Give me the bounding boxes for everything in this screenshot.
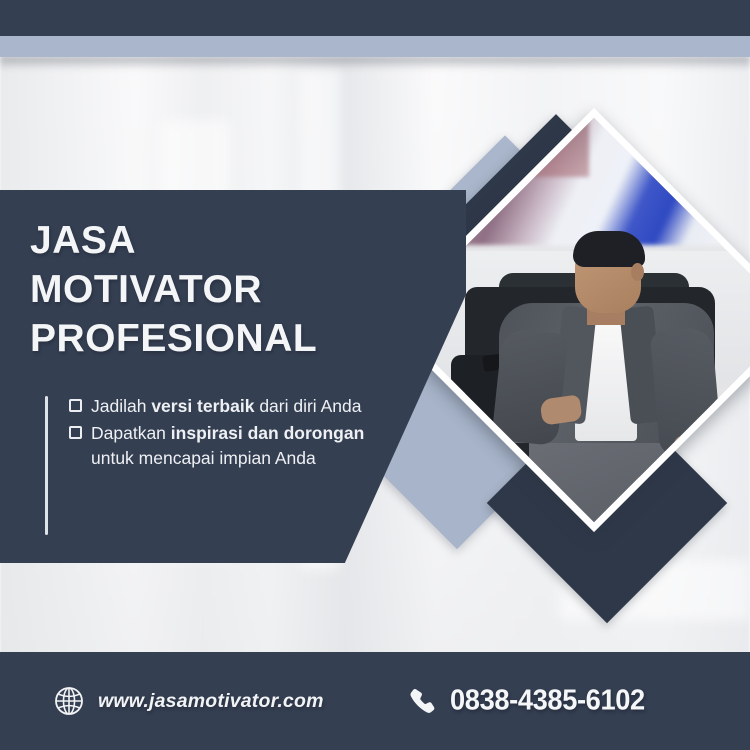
phone-icon: [408, 686, 438, 716]
website-url[interactable]: www.jasamotivator.com: [98, 690, 324, 713]
checkbox-square-icon: [69, 399, 82, 412]
headline-line-3: PROFESIONAL: [30, 314, 390, 363]
photo-hair: [573, 231, 645, 267]
benefit-text-pre: Dapatkan: [91, 423, 171, 443]
benefit-items: Jadilah versi terbaik dari diri Anda Dap…: [69, 394, 375, 472]
background-top-shadow: [0, 56, 750, 70]
benefit-text-post: untuk mencapai impian Anda: [91, 448, 316, 468]
top-blue-band: [0, 36, 750, 57]
benefit-text-post: dari diri Anda: [254, 396, 361, 416]
photo-arm-left: [491, 328, 568, 446]
benefits-list: Jadilah versi terbaik dari diri Anda Dap…: [45, 394, 375, 473]
globe-icon: [54, 686, 84, 716]
benefit-text-bold: versi terbaik: [151, 396, 254, 416]
promotional-banner: JASA MOTIVATOR PROFESIONAL Jadilah versi…: [0, 0, 750, 750]
website-contact[interactable]: www.jasamotivator.com: [54, 686, 324, 716]
photo-ear: [631, 263, 644, 281]
footer-content: www.jasamotivator.com 0838-4385-6102: [0, 652, 750, 750]
headline-line-1: JASA: [30, 216, 390, 265]
benefit-text-pre: Jadilah: [91, 396, 151, 416]
phone-number[interactable]: 0838-4385-6102: [450, 685, 645, 718]
phone-contact[interactable]: 0838-4385-6102: [408, 685, 657, 718]
photo-arm-right: [650, 327, 723, 458]
accent-rule: [45, 396, 48, 535]
benefit-text-bold: inspirasi dan dorongan: [171, 423, 365, 443]
page-title: JASA MOTIVATOR PROFESIONAL: [30, 216, 390, 363]
top-navy-band: [0, 0, 750, 36]
headline-line-2: MOTIVATOR: [30, 265, 390, 314]
list-item: Dapatkan inspirasi dan dorongan untuk me…: [69, 421, 375, 472]
footer-bar: www.jasamotivator.com 0838-4385-6102: [0, 652, 750, 750]
list-item: Jadilah versi terbaik dari diri Anda: [69, 394, 375, 420]
checkbox-square-icon: [69, 426, 82, 439]
